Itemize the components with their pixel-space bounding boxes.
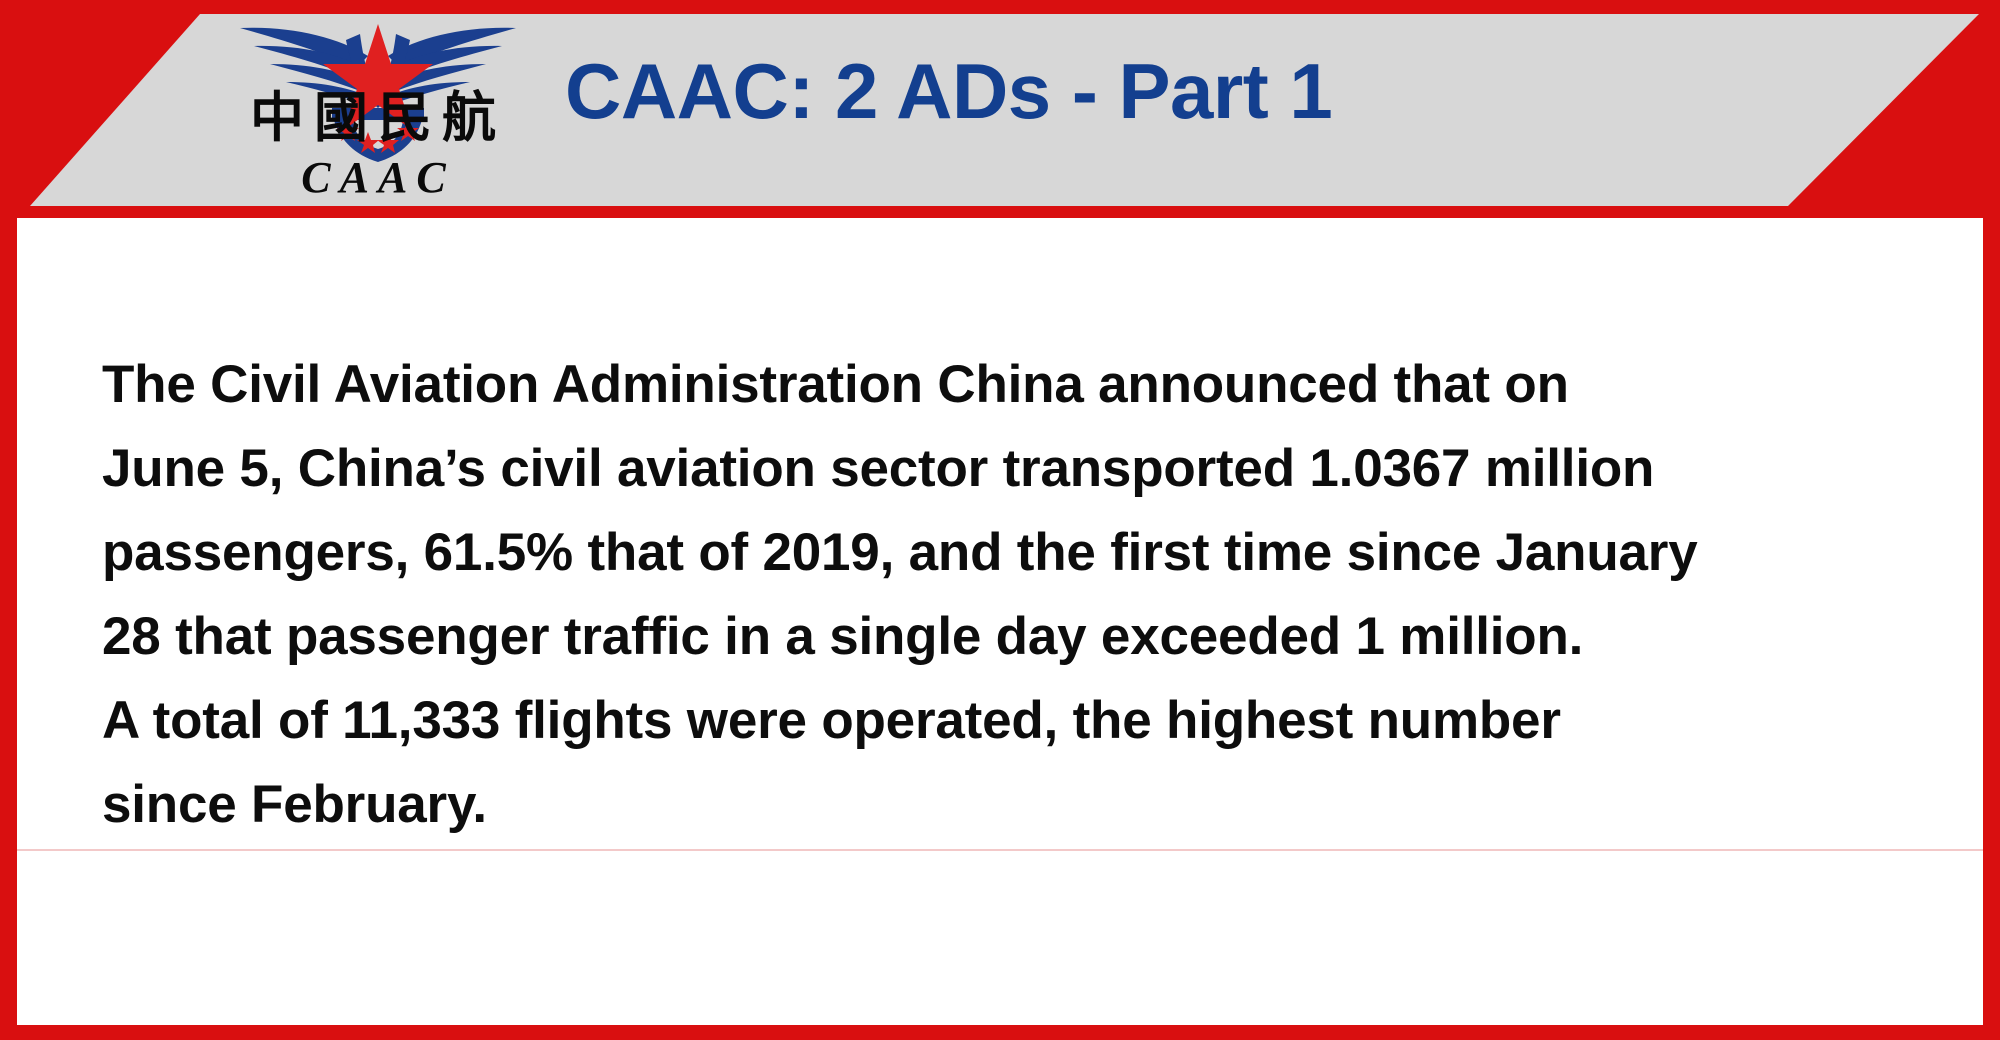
caac-logo: 中國民航 CAAC [228, 12, 528, 202]
body-line: The Civil Aviation Administration China … [102, 343, 1942, 427]
body-line: A total of 11,333 flights were operated,… [102, 679, 1942, 763]
page-title: CAAC: 2 ADs - Part 1 [565, 52, 1332, 130]
logo-acronym: CAAC [228, 156, 528, 200]
body-line: passengers, 61.5% that of 2019, and the … [102, 511, 1942, 595]
body-line: 28 that passenger traffic in a single da… [102, 595, 1942, 679]
body-text-block: The Civil Aviation Administration China … [102, 343, 1942, 847]
content-divider [17, 849, 1983, 851]
logo-chinese-characters: 中國民航 [228, 90, 528, 144]
body-line: June 5, China’s civil aviation sector tr… [102, 427, 1942, 511]
body-line: since February. [102, 763, 1942, 847]
slide: 中國民航 CAAC CAAC: 2 ADs - Part 1 The Civil… [0, 0, 2000, 1040]
content-panel: The Civil Aviation Administration China … [17, 218, 1983, 1025]
